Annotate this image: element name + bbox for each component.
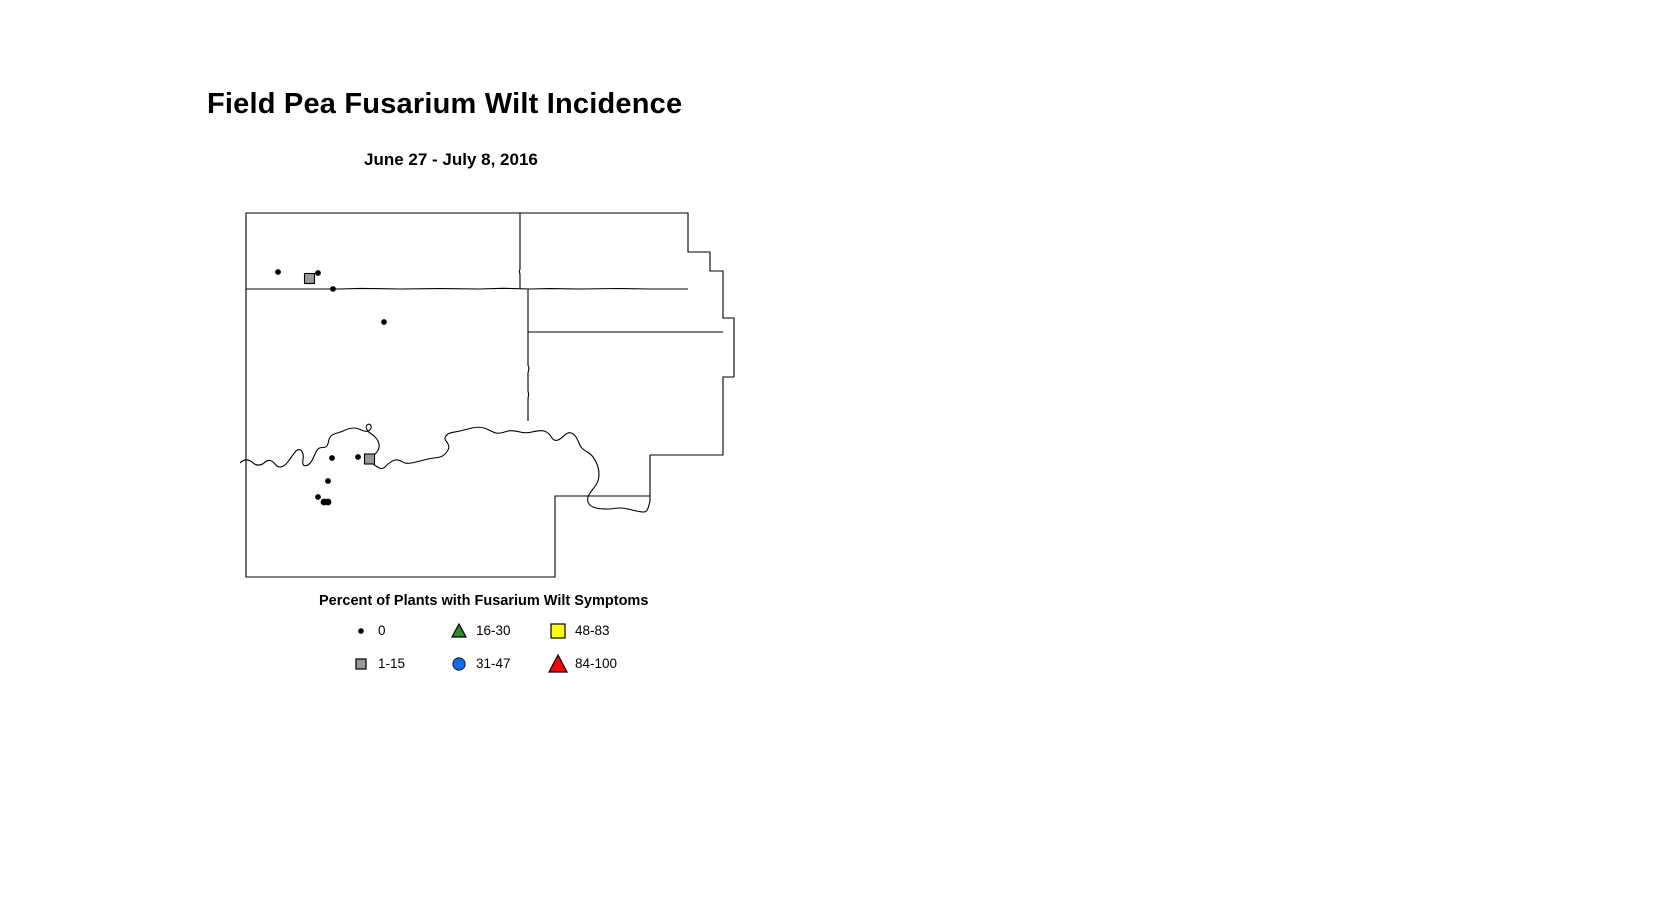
legend-label: 0 (378, 623, 386, 638)
red-triangle-icon (545, 653, 571, 675)
green-triangle-icon (446, 620, 472, 642)
sample-point (365, 454, 375, 464)
sample-point (381, 319, 387, 325)
map-boundaries (240, 213, 734, 577)
sample-point (325, 499, 332, 506)
county-line-east-vertical (528, 332, 529, 421)
legend-label: 48-83 (575, 623, 610, 638)
sample-point (305, 274, 315, 284)
legend-label: 84-100 (575, 656, 617, 671)
river-boundary (240, 424, 650, 512)
sample-point (330, 286, 336, 292)
legend-title: Percent of Plants with Fusarium Wilt Sym… (319, 593, 648, 609)
county-line-north (246, 288, 688, 289)
map-legend: Percent of Plants with Fusarium Wilt Sym… (240, 588, 760, 688)
page-title: Field Pea Fusarium Wilt Incidence (207, 88, 682, 121)
map-figure: Field Pea Fusarium Wilt Incidence June 2… (0, 0, 1673, 900)
map-graphic (240, 205, 740, 595)
region-outline (246, 213, 734, 577)
gray-square-icon (348, 653, 374, 675)
map-canvas (240, 205, 740, 595)
county-line-center-vertical (519, 213, 520, 289)
survey-points (275, 269, 387, 505)
sample-point (275, 269, 281, 275)
sample-point (325, 478, 331, 484)
page-subtitle: June 27 - July 8, 2016 (364, 150, 538, 170)
small-dot-icon (348, 620, 374, 642)
sample-point (315, 270, 321, 276)
legend-label: 1-15 (378, 656, 405, 671)
legend-label: 16-30 (476, 623, 511, 638)
sample-point (329, 455, 335, 461)
blue-circle-icon (446, 653, 472, 675)
legend-label: 31-47 (476, 656, 511, 671)
sample-point (315, 494, 321, 500)
yellow-square-icon (545, 620, 571, 642)
sample-point (355, 454, 361, 460)
